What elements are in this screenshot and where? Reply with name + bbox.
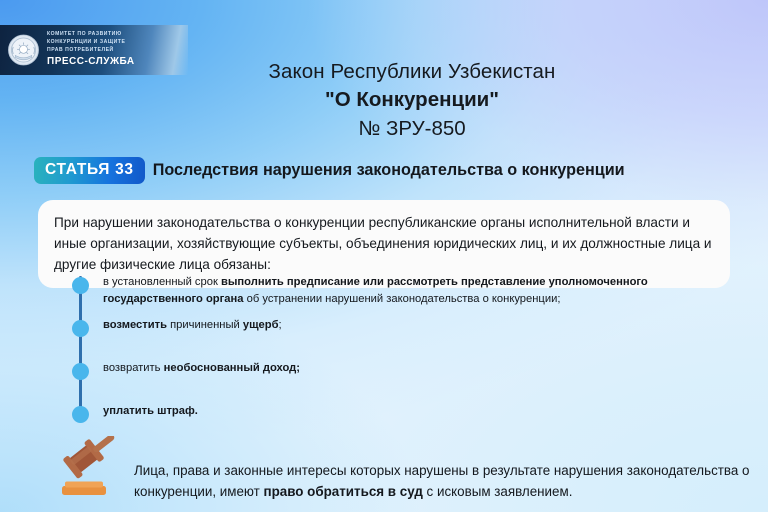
obligations-list: в установленный срок выполнить предписан… bbox=[72, 272, 732, 435]
article-heading: Последствия нарушения законодательства о… bbox=[153, 161, 625, 180]
title-line-3: № ЗРУ-850 bbox=[186, 115, 638, 142]
press-bar-line-1: КОМИТЕТ ПО РАЗВИТИЮ bbox=[47, 31, 135, 39]
list-item: в установленный срок выполнить предписан… bbox=[72, 272, 732, 308]
press-bar-line-3: ПРАВ ПОТРЕБИТЕЛЕЙ bbox=[47, 47, 135, 55]
uzbekistan-state-emblem-icon bbox=[7, 33, 40, 67]
court-note: Лица, права и законные интересы которых … bbox=[60, 438, 760, 502]
ob2-post: ; bbox=[279, 319, 282, 331]
ob2-bold: возместить bbox=[103, 319, 167, 331]
press-service-header: КОМИТЕТ ПО РАЗВИТИЮ КОНКУРЕНЦИИ И ЗАЩИТЕ… bbox=[0, 25, 188, 75]
list-item: возвратить необоснованный доход; bbox=[72, 358, 732, 392]
ob2-bold2: ущерб bbox=[243, 319, 279, 331]
note-post: с исковым заявлением. bbox=[423, 484, 573, 499]
list-item-text: возместить причиненный ущерб; bbox=[103, 315, 282, 334]
court-note-text: Лица, права и законные интересы которых … bbox=[134, 438, 760, 502]
title-line-2: "О Конкуренции" bbox=[186, 86, 638, 113]
press-bar-title: ПРЕСС-СЛУЖБА bbox=[47, 55, 135, 69]
article-header-row: СТАТЬЯ 33 Последствия нарушения законода… bbox=[34, 157, 625, 184]
ob3-bold: необоснованный доход; bbox=[164, 362, 300, 374]
note-bold: право обратиться в суд bbox=[264, 484, 423, 499]
list-item-text: уплатить штраф. bbox=[103, 401, 198, 420]
title-line-1: Закон Республики Узбекистан bbox=[186, 58, 638, 85]
list-item: возместить причиненный ущерб; bbox=[72, 315, 732, 349]
ob1-post: об устранении нарушений законодательства… bbox=[244, 293, 561, 305]
list-item: уплатить штраф. bbox=[72, 401, 732, 435]
bullet-dot-icon bbox=[72, 277, 89, 294]
bullet-dot-icon bbox=[72, 320, 89, 337]
article-number-badge: СТАТЬЯ 33 bbox=[34, 157, 145, 184]
ob4-bold: уплатить штраф. bbox=[103, 405, 198, 417]
bullet-dot-icon bbox=[72, 406, 89, 423]
bullet-dot-icon bbox=[72, 363, 89, 380]
ob1-pre: в установленный срок bbox=[103, 276, 221, 288]
ob3-pre: возвратить bbox=[103, 362, 164, 374]
list-item-text: в установленный срок выполнить предписан… bbox=[103, 272, 732, 308]
list-item-text: возвратить необоснованный доход; bbox=[103, 358, 300, 377]
press-bar-line-2: КОНКУРЕНЦИИ И ЗАЩИТЕ bbox=[47, 39, 135, 47]
page-title: Закон Республики Узбекистан "О Конкуренц… bbox=[186, 58, 638, 142]
ob2-mid: причиненный bbox=[167, 319, 243, 331]
gavel-icon bbox=[60, 436, 122, 502]
